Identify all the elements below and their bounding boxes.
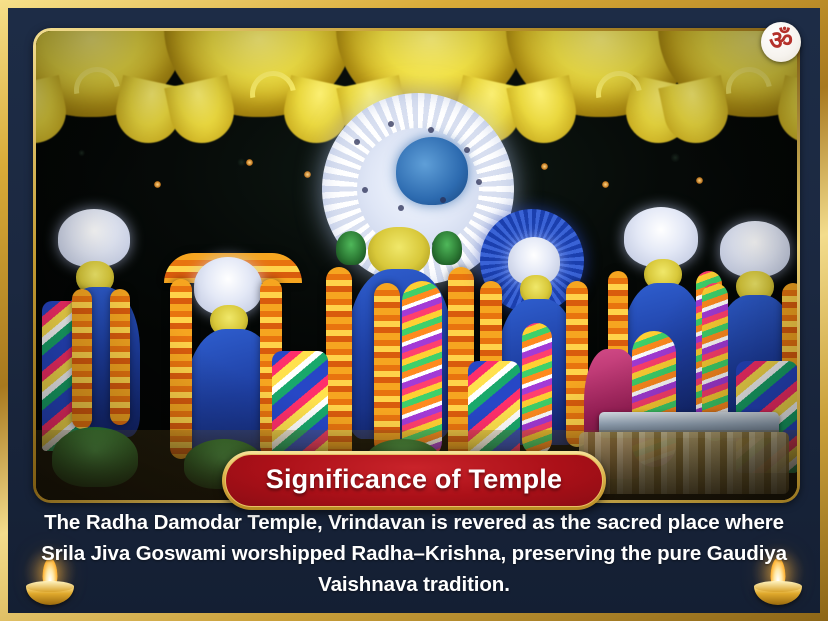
marigold-garland [110, 289, 130, 425]
title-banner-text: Significance of Temple [266, 464, 562, 495]
caption-text: The Radha Damodar Temple, Vrindavan is r… [38, 508, 790, 600]
backdrop-lamp-icon [602, 181, 609, 188]
caption-block: The Radha Damodar Temple, Vrindavan is r… [8, 508, 820, 600]
backdrop-lamp-icon [246, 159, 253, 166]
backdrop-lamp-icon [696, 177, 703, 184]
photo-frame [33, 28, 800, 503]
temple-deity-photo [36, 31, 797, 500]
om-icon: ॐ [769, 28, 793, 54]
title-banner[interactable]: Significance of Temple [222, 451, 606, 510]
poster-root: ॐ [0, 0, 828, 621]
backdrop-lamp-icon [541, 163, 548, 170]
backdrop-lamp-icon [154, 181, 161, 188]
poster-body: ॐ [8, 8, 820, 613]
deity-crown [624, 207, 698, 267]
deity-crown [720, 221, 790, 277]
title-banner-inner: Significance of Temple [225, 454, 603, 507]
marigold-garland [72, 289, 92, 429]
deity-side-leaf [336, 231, 366, 265]
brand-logo[interactable]: ॐ [761, 22, 801, 62]
title-banner-wrapper: Significance of Temple [8, 451, 820, 510]
deity-crown [58, 209, 130, 267]
backdrop-lamp-icon [304, 171, 311, 178]
deity-side-leaf [432, 231, 462, 265]
